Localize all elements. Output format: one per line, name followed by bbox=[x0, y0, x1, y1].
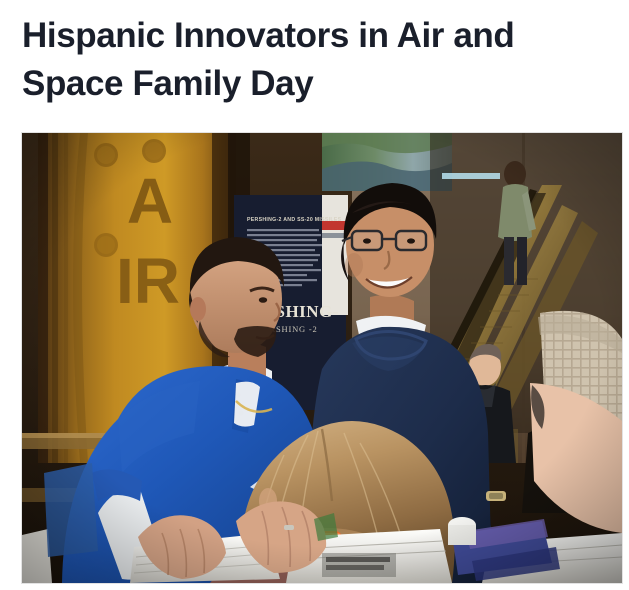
page-root: Hispanic Innovators in Air and Space Fam… bbox=[0, 0, 629, 590]
photo-vignette bbox=[22, 133, 622, 583]
photograph-illustration: Photograph of a Hispanic Innovators in A… bbox=[22, 133, 622, 583]
event-photograph: Photograph of a Hispanic Innovators in A… bbox=[22, 133, 622, 583]
page-title: Hispanic Innovators in Air and Space Fam… bbox=[22, 12, 622, 108]
